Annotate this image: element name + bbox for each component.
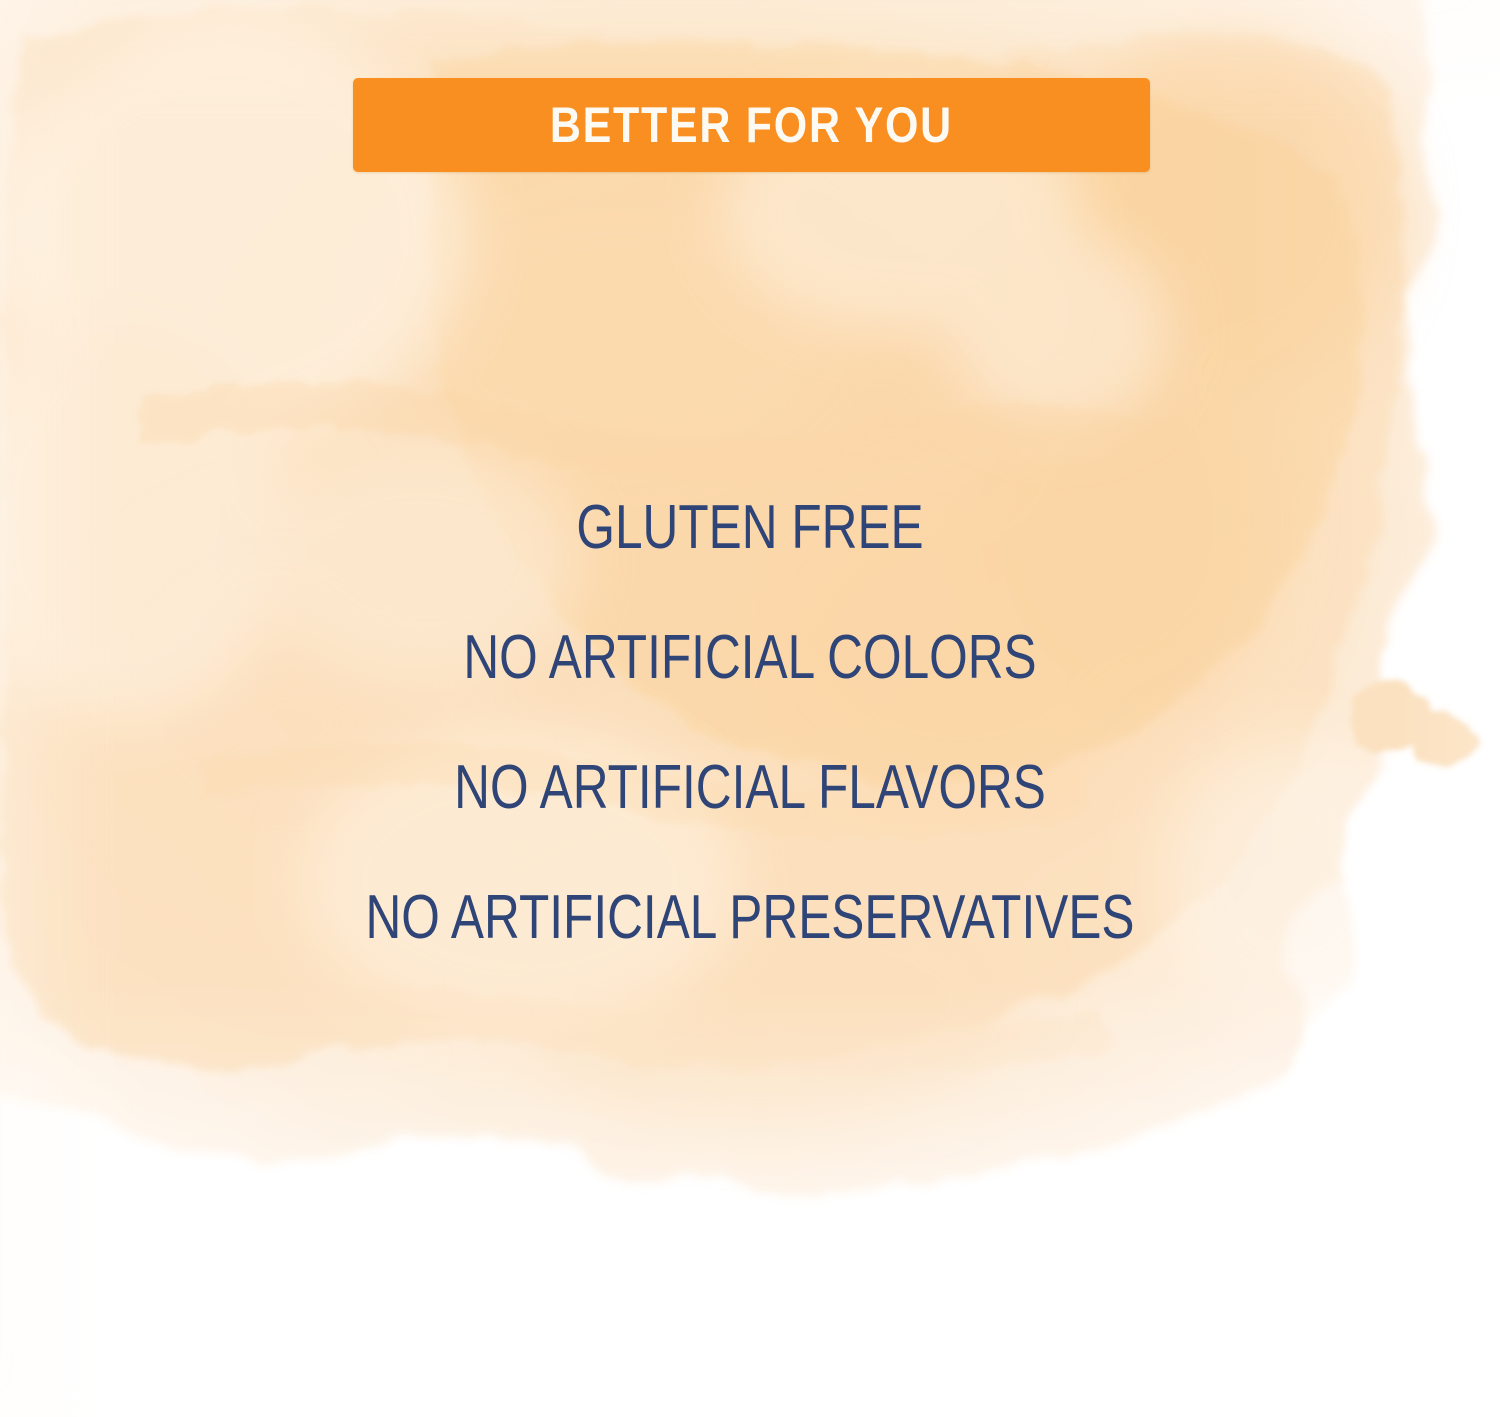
claim-label: NO ARTIFICIAL COLORS <box>463 627 1036 689</box>
claims-list: GLUTEN FREE NO ARTIFICIAL COLORS NO ARTI… <box>0 497 1500 1017</box>
better-for-you-banner: BETTER FOR YOU <box>353 78 1150 172</box>
claim-label: NO ARTIFICIAL FLAVORS <box>454 757 1046 819</box>
claim-item: NO ARTIFICIAL COLORS <box>150 627 1350 757</box>
banner-title: BETTER FOR YOU <box>550 100 953 150</box>
promo-canvas: BETTER FOR YOU GLUTEN FREE NO ARTIFICIAL… <box>0 0 1500 1417</box>
claim-label: GLUTEN FREE <box>576 497 923 559</box>
claim-item: NO ARTIFICIAL PRESERVATIVES <box>150 887 1350 1017</box>
claim-label: NO ARTIFICIAL PRESERVATIVES <box>365 887 1134 949</box>
claim-item: NO ARTIFICIAL FLAVORS <box>150 757 1350 887</box>
claim-item: GLUTEN FREE <box>150 497 1350 627</box>
